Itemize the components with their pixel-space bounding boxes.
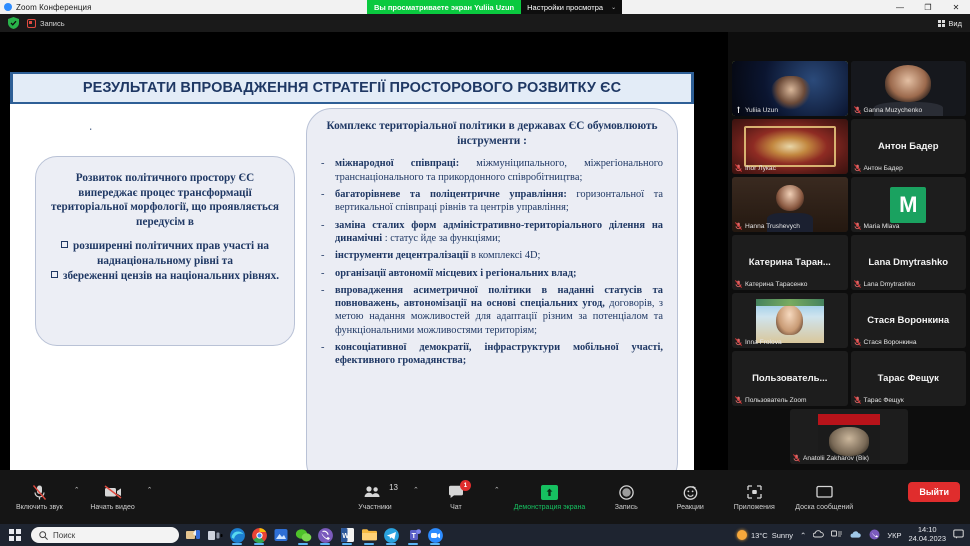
- list-item-rest: в комплексі 4D;: [468, 250, 540, 261]
- title-edge-right: [691, 72, 694, 104]
- window-title-bar: Zoom Конференция Вы просматриваете экран…: [0, 0, 970, 14]
- share-screen-label: Демонстрация экрана: [514, 504, 586, 511]
- participant-name: Ihor Лукас: [745, 165, 776, 172]
- recording-indicator[interactable]: Запись: [27, 19, 65, 28]
- start-button[interactable]: [4, 524, 26, 546]
- taskbar-search-input[interactable]: Поиск: [31, 527, 179, 543]
- microphone-muted-icon: [735, 396, 742, 404]
- system-tray: 13°C Sunny ⌃ УКР 14:10 24.04.2023: [737, 526, 964, 543]
- grid-view-icon: [938, 20, 945, 27]
- chat-button[interactable]: Чат 1: [429, 482, 483, 513]
- presentation-slide: РЕЗУЛЬТАТИ ВПРОВАДЖЕННЯ СТРАТЕГІЇ ПРОСТО…: [10, 72, 694, 497]
- view-options-button[interactable]: Настройки просмотра ⌄: [521, 0, 622, 14]
- left-callout-box: Розвиток політичного простору ЄС виперед…: [35, 156, 295, 346]
- microphone-muted-icon: [32, 484, 47, 501]
- clock[interactable]: 14:10 24.04.2023: [908, 526, 946, 543]
- camera-muted-icon: [104, 484, 122, 501]
- microphone-muted-icon: [735, 164, 742, 172]
- cloud-icon[interactable]: [850, 530, 862, 541]
- participant-name-bar: Пользователь Zoom: [735, 396, 845, 404]
- list-item-bold: організації автономії місцевих і регіона…: [335, 268, 576, 279]
- file-explorer-icon[interactable]: [359, 525, 379, 545]
- language-indicator[interactable]: УКР: [887, 531, 901, 540]
- microphone-muted-icon: [854, 164, 861, 172]
- leave-meeting-button[interactable]: Выйти: [908, 482, 960, 502]
- participants-label: Участники: [358, 504, 391, 511]
- unmute-button[interactable]: Включить звук: [12, 482, 67, 513]
- participant-tile[interactable]: Inna Frolova: [732, 293, 848, 348]
- participant-video-thumbnail: [818, 414, 880, 460]
- record-icon: [27, 19, 36, 28]
- list-dash-marker: -: [321, 157, 329, 184]
- apps-button[interactable]: Приложения: [727, 482, 781, 513]
- participant-tile[interactable]: Anatolii Zakharov (Вік): [790, 409, 908, 464]
- right-box-list-item: -інструменти децентралізації в комплексі…: [321, 249, 663, 262]
- microphone-muted-icon: [735, 222, 742, 230]
- participant-tile[interactable]: Стася ВоронкинаСтася Воронкина: [851, 293, 967, 348]
- right-box-list-item: -багаторівневе та поліцентричне управлін…: [321, 188, 663, 215]
- view-options-label: Настройки просмотра: [527, 3, 603, 12]
- participant-name: Anatolii Zakharov (Вік): [803, 455, 869, 462]
- view-button-label: Вид: [948, 19, 962, 28]
- weather-temperature: 13°C: [751, 531, 768, 540]
- participant-display-name: Тарас Фещук: [878, 373, 939, 384]
- slide-title-banner: РЕЗУЛЬТАТИ ВПРОВАДЖЕННЯ СТРАТЕГІЇ ПРОСТО…: [10, 72, 694, 104]
- participant-name: Катерина Тарасенко: [745, 281, 807, 288]
- network-icon[interactable]: [831, 529, 843, 541]
- right-box-list-item-text: міжнародної співпраці: міжмуніципального…: [335, 157, 663, 184]
- participant-tile[interactable]: Катерина Таран...Катерина Тарасенко: [732, 235, 848, 290]
- list-item-bold: багаторівневе та поліцентричне управлінн…: [335, 189, 567, 200]
- right-box-list-item-text: багаторівневе та поліцентричне управлінн…: [335, 188, 663, 215]
- search-icon: [39, 531, 48, 540]
- participant-name-bar: Hanna Trushevych: [735, 222, 845, 230]
- checkbox-square-icon: [61, 241, 68, 248]
- participant-name-bar: Ganna Muzychenko: [854, 106, 964, 114]
- whiteboard-label: Доска сообщений: [795, 504, 853, 511]
- right-box-list: -міжнародної співпраці: міжмуніципальног…: [321, 157, 663, 367]
- participant-name-bar: Anatolii Zakharov (Вік): [793, 454, 905, 462]
- participant-tile[interactable]: Hanna Trushevych: [732, 177, 848, 232]
- participant-tile[interactable]: Тарас ФещукТарас Фещук: [851, 351, 967, 406]
- zoom-meeting-window: Zoom Конференция Вы просматриваете экран…: [0, 0, 970, 546]
- weather-description: Sunny: [772, 531, 793, 540]
- microphone-muted-icon: [735, 338, 742, 346]
- participants-video-strip: Yuliia UzunGanna MuzychenkoIhor ЛукасАнт…: [728, 32, 970, 470]
- participant-video-thumbnail: [756, 299, 824, 343]
- reactions-smiley-icon: [683, 484, 698, 501]
- left-box-bullet-2: збереженні цензів на національних рівнях…: [51, 269, 279, 284]
- participant-name: Lana Dmytrashko: [864, 281, 916, 288]
- microphone-muted-icon: [735, 280, 742, 288]
- participant-name: Пользователь Zoom: [745, 397, 806, 404]
- clock-date: 24.04.2023: [908, 535, 946, 544]
- participant-name-bar: Inna Frolova: [735, 338, 845, 346]
- close-button[interactable]: ✕: [942, 0, 970, 14]
- share-banner-label: Вы просматриваете экран Yuliia Uzun: [367, 0, 521, 14]
- chat-caret-icon[interactable]: ⌃: [494, 482, 500, 494]
- video-tiles-grid: Yuliia UzunGanna MuzychenkoIhor ЛукасАнт…: [732, 61, 966, 464]
- view-layout-button[interactable]: Вид: [935, 17, 965, 29]
- wechat-icon[interactable]: [293, 525, 313, 545]
- right-box-list-item: -консоціативної демократії, інфраструкту…: [321, 341, 663, 368]
- participant-name-bar: Lana Dmytrashko: [854, 280, 964, 288]
- screen-share-banner: Вы просматриваете экран Yuliia Uzun Наст…: [367, 0, 622, 14]
- app-identity: Zoom Конференция: [0, 3, 92, 12]
- participant-display-name: Антон Бадер: [878, 141, 939, 152]
- photos-icon[interactable]: [271, 525, 291, 545]
- microphone-muted-icon: [854, 338, 861, 346]
- onedrive-icon[interactable]: [813, 529, 824, 541]
- start-video-label: Начать видео: [90, 504, 134, 511]
- participant-name-bar: Maria Mlava: [854, 222, 964, 230]
- participant-name: Ganna Muzychenko: [864, 107, 923, 114]
- chevron-down-icon: ⌄: [611, 4, 616, 11]
- participants-caret-icon[interactable]: ⌃: [413, 482, 419, 494]
- right-box-list-item-text: організації автономії місцевих і регіона…: [335, 267, 663, 280]
- telegram-icon[interactable]: [381, 525, 401, 545]
- share-screen-button[interactable]: Демонстрация экрана: [510, 482, 590, 513]
- right-box-list-item-text: впровадження асиметричної політики в над…: [335, 284, 663, 337]
- participant-name: Inna Frolova: [745, 339, 782, 346]
- zoom-taskbar-icon[interactable]: [425, 525, 445, 545]
- apps-icon: [747, 484, 762, 501]
- windows-logo-icon: [9, 529, 21, 541]
- word-icon[interactable]: W: [337, 525, 357, 545]
- viber-tray-icon[interactable]: [869, 529, 880, 542]
- record-circle-icon: [619, 484, 634, 501]
- recording-label: Запись: [40, 19, 65, 28]
- left-box-bullet-2-text: збереженні цензів на національних рівнях…: [63, 270, 279, 282]
- microphone-pinned-icon: [735, 106, 742, 114]
- app-title: Zoom Конференция: [16, 3, 92, 12]
- task-view-icon[interactable]: [205, 525, 225, 545]
- title-edge-left: [10, 72, 13, 104]
- shared-screen-stage: РЕЗУЛЬТАТИ ВПРОВАДЖЕННЯ СТРАТЕГІЇ ПРОСТО…: [0, 32, 728, 470]
- microphone-muted-icon: [854, 106, 861, 114]
- windows-taskbar: Поиск W: [0, 524, 970, 546]
- participant-display-name: Стася Воронкина: [867, 315, 949, 326]
- participant-name-bar: Антон Бадер: [854, 164, 964, 172]
- microphone-muted-icon: [854, 222, 861, 230]
- participant-name: Yuliia Uzun: [745, 107, 778, 114]
- participant-tile[interactable]: MMaria Mlava: [851, 177, 967, 232]
- meeting-status-bar: Запись Вид: [0, 14, 970, 32]
- microphone-muted-icon: [793, 454, 800, 462]
- window-controls: — ❐ ✕: [886, 0, 970, 14]
- whiteboard-button[interactable]: Доска сообщений: [791, 482, 857, 513]
- right-box-list-item: -організації автономії місцевих і регіон…: [321, 267, 663, 280]
- encryption-shield-icon[interactable]: [8, 17, 19, 29]
- edge-icon[interactable]: [227, 525, 247, 545]
- weather-widget[interactable]: 13°C Sunny: [737, 530, 793, 540]
- participant-name: Антон Бадер: [864, 165, 903, 172]
- list-dash-marker: -: [321, 219, 329, 246]
- right-box-list-item: -впровадження асиметричної політики в на…: [321, 284, 663, 337]
- left-box-bullet-1-text: розширенні політичних прав участі на над…: [73, 240, 269, 267]
- left-box-bullet-1: розширенні політичних прав участі на над…: [50, 239, 280, 269]
- left-box-paragraph: Розвиток політичного простору ЄС виперед…: [50, 171, 280, 229]
- participant-tile[interactable]: Антон БадерАнтон Бадер: [851, 119, 967, 174]
- zoom-logo-icon: [4, 3, 12, 11]
- maximize-button[interactable]: ❐: [914, 0, 942, 14]
- participant-name-bar: Стася Воронкина: [854, 338, 964, 346]
- reactions-label: Реакции: [677, 504, 704, 511]
- participant-display-name: Lana Dmytrashko: [868, 257, 948, 268]
- search-placeholder: Поиск: [53, 531, 75, 540]
- apps-label: Приложения: [734, 504, 775, 511]
- list-item-rest: : статус йде за функціями;: [382, 233, 500, 244]
- participant-name-bar: Yuliia Uzun: [735, 106, 845, 114]
- right-box-list-item-text: інструменти децентралізації в комплексі …: [335, 249, 663, 262]
- right-box-list-item-text: заміна сталих форм адміністративно-терит…: [335, 219, 663, 246]
- record-label: Запись: [615, 504, 638, 511]
- viber-icon[interactable]: [315, 525, 335, 545]
- participant-name-bar: Катерина Тарасенко: [735, 280, 845, 288]
- av-controls: Включить звук ⌃ Начать видео ⌃: [0, 482, 152, 513]
- participant-tile[interactable]: Ihor Лукас: [732, 119, 848, 174]
- meeting-actions: Участники 13 ⌃ Чат 1 ⌃ Демонстрация экра…: [348, 482, 857, 513]
- record-button[interactable]: Запись: [599, 482, 653, 513]
- meeting-toolbar: Включить звук ⌃ Начать видео ⌃ Участ: [0, 470, 970, 524]
- tray-expand-caret-icon[interactable]: ⌃: [800, 531, 806, 540]
- participant-name: Maria Mlava: [864, 223, 900, 230]
- unmute-label: Включить звук: [16, 504, 63, 511]
- list-item-bold: міжнародної співпраці:: [335, 158, 459, 169]
- participant-name: Hanna Trushevych: [745, 223, 800, 230]
- notifications-icon[interactable]: [953, 529, 964, 541]
- list-dash-marker: -: [321, 249, 329, 262]
- participants-count: 13: [389, 483, 398, 492]
- chrome-icon[interactable]: [249, 525, 269, 545]
- list-item-bold: інструменти децентралізації: [335, 250, 468, 261]
- participant-tile[interactable]: Lana DmytrashkoLana Dmytrashko: [851, 235, 967, 290]
- participant-tile[interactable]: Ganna Muzychenko: [851, 61, 967, 116]
- checkbox-square-icon: [51, 271, 58, 278]
- teams-icon[interactable]: T: [403, 525, 423, 545]
- chat-unread-badge: 1: [460, 480, 471, 491]
- participant-display-name: Пользователь...: [752, 373, 827, 384]
- minimize-button[interactable]: —: [886, 0, 914, 14]
- microphone-muted-icon: [854, 280, 861, 288]
- whiteboard-icon: [816, 484, 833, 501]
- participant-tile[interactable]: Пользователь...Пользователь Zoom: [732, 351, 848, 406]
- audio-options-caret-icon[interactable]: ⌃: [74, 482, 80, 494]
- taskbar-app-icons: W T: [183, 525, 445, 545]
- slide-corner-mark: ۰: [88, 124, 93, 135]
- svg-text:T: T: [411, 533, 416, 540]
- right-box-list-item: -міжнародної співпраці: міжмуніципальног…: [321, 157, 663, 184]
- list-dash-marker: -: [321, 188, 329, 215]
- microphone-muted-icon: [854, 396, 861, 404]
- participant-name-bar: Ihor Лукас: [735, 164, 845, 172]
- avatar: M: [890, 187, 926, 223]
- right-box-list-item: -заміна сталих форм адміністративно-тери…: [321, 219, 663, 246]
- right-callout-box: Комплекс територіальної політики в держа…: [306, 108, 678, 488]
- sun-icon: [737, 530, 747, 540]
- widgets-icon[interactable]: [183, 525, 203, 545]
- participant-tile[interactable]: Yuliia Uzun: [732, 61, 848, 116]
- reactions-button[interactable]: Реакции: [663, 482, 717, 513]
- right-box-heading: Комплекс територіальної політики в держа…: [321, 119, 663, 148]
- video-options-caret-icon[interactable]: ⌃: [147, 482, 153, 494]
- participant-name: Стася Воронкина: [864, 339, 917, 346]
- right-box-list-item-text: консоціативної демократії, інфраструктур…: [335, 341, 663, 368]
- list-dash-marker: -: [321, 267, 329, 280]
- participants-button[interactable]: Участники 13: [348, 482, 402, 513]
- slide-title: РЕЗУЛЬТАТИ ВПРОВАДЖЕННЯ СТРАТЕГІЇ ПРОСТО…: [83, 80, 621, 96]
- list-dash-marker: -: [321, 341, 329, 368]
- chat-label: Чат: [450, 504, 462, 511]
- list-item-bold: консоціативної демократії, інфраструктур…: [335, 342, 663, 366]
- participants-icon: [364, 484, 386, 501]
- share-screen-icon: [541, 484, 558, 501]
- participant-name: Тарас Фещук: [864, 397, 904, 404]
- list-dash-marker: -: [321, 284, 329, 337]
- participant-name-bar: Тарас Фещук: [854, 396, 964, 404]
- participant-display-name: Катерина Таран...: [749, 257, 831, 268]
- start-video-button[interactable]: Начать видео: [86, 482, 140, 513]
- svg-text:W: W: [342, 533, 349, 540]
